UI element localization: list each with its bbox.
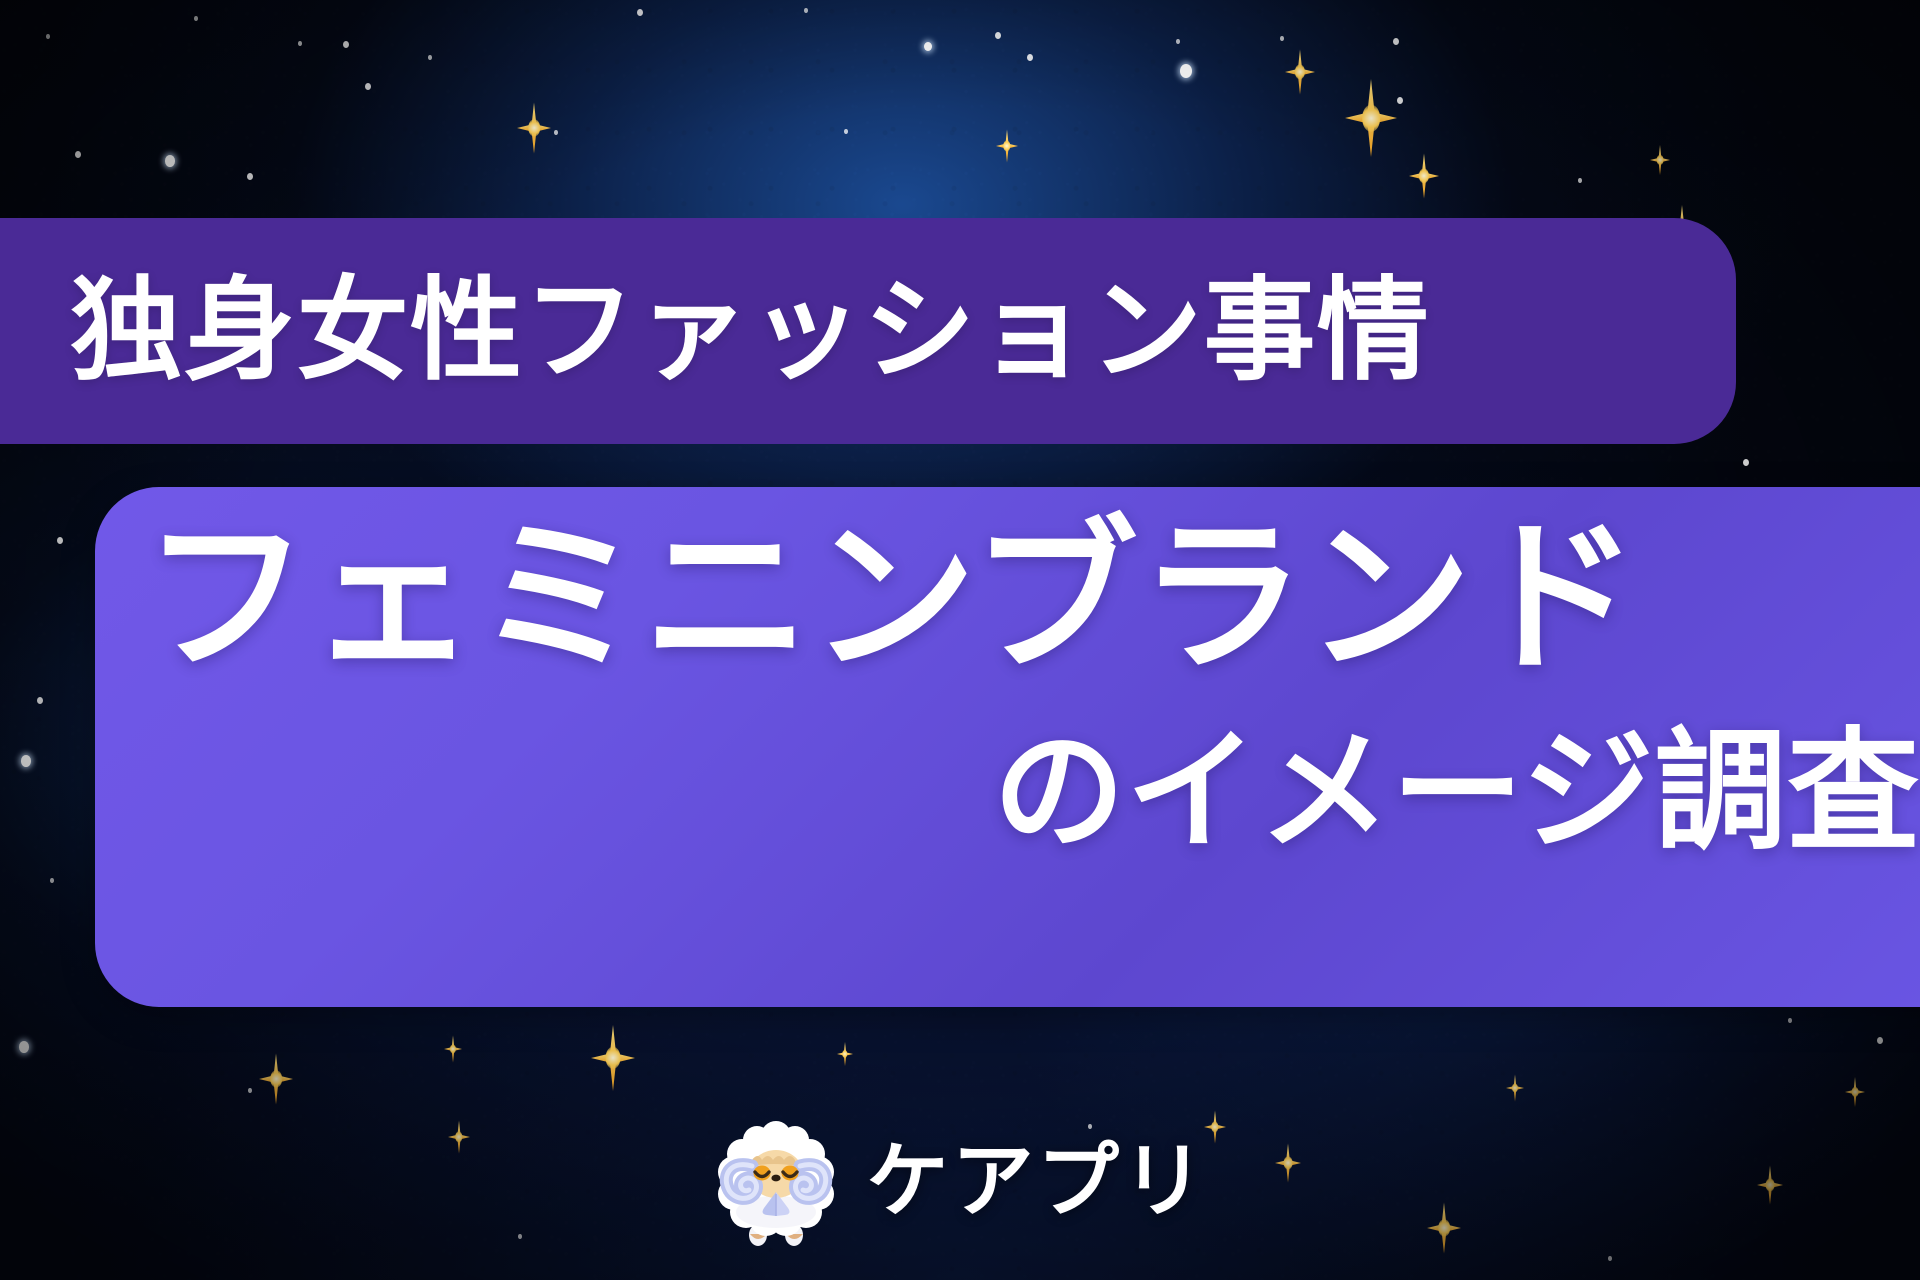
subtitle-text: 独身女性ファッション事情 (70, 275, 1430, 387)
title-line-1: フェミニンブランド (143, 509, 1703, 688)
brand-name: ケアプリ (866, 1141, 1207, 1223)
title-banner: フェミニンブランド のイメージ調査 (95, 487, 1920, 1007)
title-line-2: のイメージ調査 (993, 719, 1920, 864)
subtitle-banner: 独身女性ファッション事情 (0, 218, 1736, 444)
sheep-mascot-icon (712, 1116, 840, 1248)
brand-footer: ケアプリ (0, 1108, 1920, 1256)
